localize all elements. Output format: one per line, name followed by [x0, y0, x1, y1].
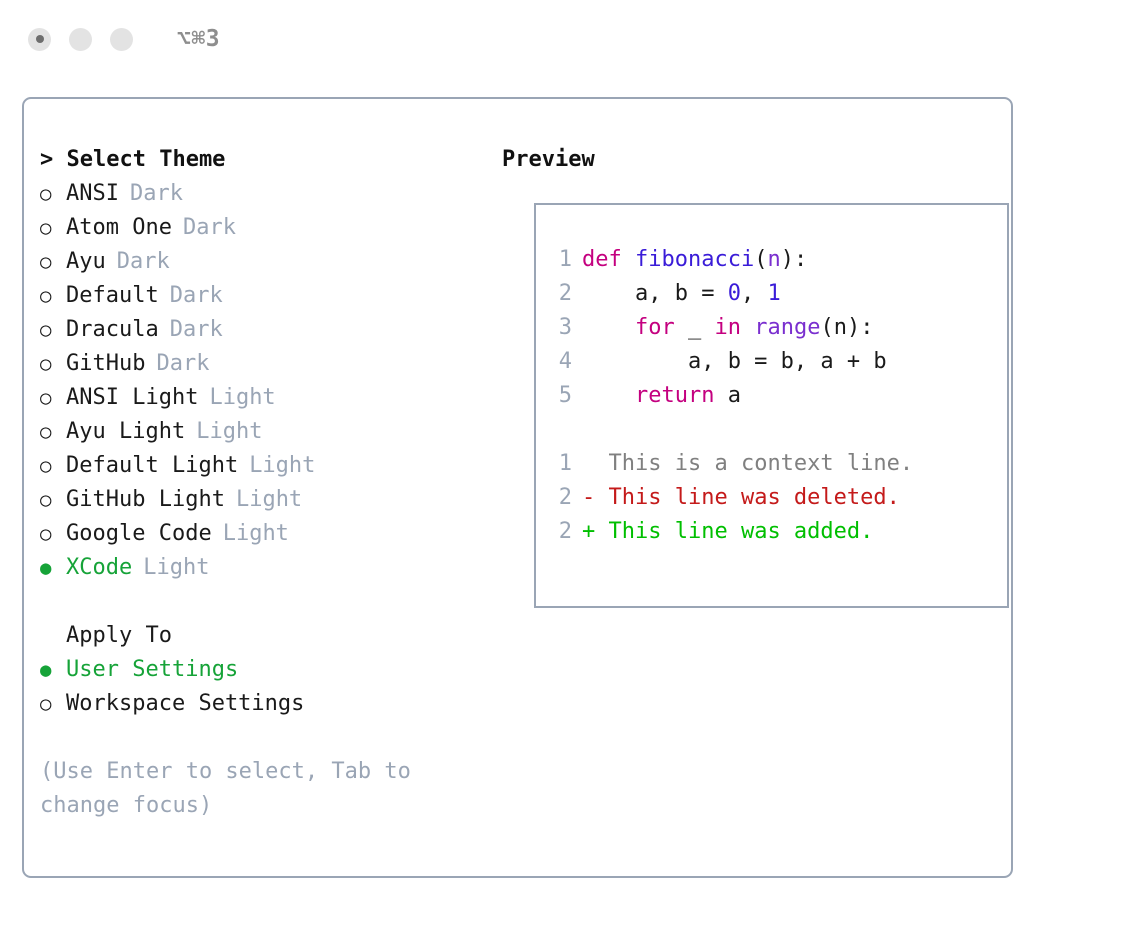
code-token-plain: ): [781, 247, 808, 272]
apply-to-option-list: ●User Settings○Workspace Settings [40, 653, 490, 721]
code-sample: 1def fibonacci(n):2 a, b = 0, 13 for _ i… [546, 243, 1001, 413]
theme-option-default-light[interactable]: ○Default LightLight [40, 449, 490, 483]
apply-to-option-label: Workspace Settings [66, 687, 304, 721]
theme-option-label: ANSI [66, 177, 119, 211]
theme-option-variant: Light [209, 381, 275, 415]
diff-line-number: 2 [546, 481, 572, 515]
window-controls [28, 28, 133, 51]
apply-to-option-user-settings[interactable]: ●User Settings [40, 653, 490, 687]
code-token-kw: for [635, 315, 675, 340]
window-dot-active-inner [36, 35, 44, 43]
code-line-content: a, b = 0, 1 [582, 277, 781, 311]
theme-option-label: GitHub [66, 347, 145, 381]
diff-sample: 1 This is a context line.2- This line wa… [546, 447, 1001, 549]
theme-option-dracula[interactable]: ○DraculaDark [40, 313, 490, 347]
window-dot-third[interactable] [110, 28, 133, 51]
theme-option-variant: Dark [183, 211, 236, 245]
code-line: 1def fibonacci(n): [546, 243, 1001, 277]
panel-columns: > Select Theme ○ANSIDark○Atom OneDark○Ay… [24, 99, 1011, 876]
radio-unselected-icon: ○ [40, 211, 66, 245]
diff-sign: + [582, 515, 595, 549]
code-token-plain: ( [754, 247, 767, 272]
theme-option-label: Default [66, 279, 159, 313]
radio-unselected-icon: ○ [40, 177, 66, 211]
radio-unselected-icon: ○ [40, 313, 66, 347]
code-token-plain [582, 315, 635, 340]
theme-selection-column: > Select Theme ○ANSIDark○Atom OneDark○Ay… [40, 143, 490, 823]
diff-sign [582, 447, 595, 481]
code-line-number: 1 [546, 243, 572, 277]
code-token-plain: _ [675, 315, 715, 340]
theme-option-variant: Dark [170, 313, 223, 347]
theme-option-github[interactable]: ○GitHubDark [40, 347, 490, 381]
diff-line-text: This is a context line. [609, 447, 914, 481]
preview-column: Preview 1def fibonacci(n):2 a, b = 0, 13… [502, 143, 1002, 177]
theme-option-label: Ayu Light [66, 415, 185, 449]
theme-option-ansi-light[interactable]: ○ANSI LightLight [40, 381, 490, 415]
radio-unselected-icon: ○ [40, 245, 66, 279]
theme-option-ayu[interactable]: ○AyuDark [40, 245, 490, 279]
theme-option-label: Default Light [66, 449, 238, 483]
theme-option-label: XCode [66, 551, 132, 585]
diff-line-del: 2- This line was deleted. [546, 481, 1001, 515]
radio-unselected-icon: ○ [40, 347, 66, 381]
diff-line-text: This line was deleted. [609, 481, 900, 515]
diff-sign-gap [595, 481, 608, 515]
code-token-plain: (n): [820, 315, 873, 340]
code-line-number: 2 [546, 277, 572, 311]
theme-option-variant: Dark [170, 279, 223, 313]
theme-option-variant: Dark [156, 347, 209, 381]
theme-option-variant: Dark [130, 177, 183, 211]
diff-line-ctx: 1 This is a context line. [546, 447, 1001, 481]
code-line-content: def fibonacci(n): [582, 243, 807, 277]
preview-code-area: 1def fibonacci(n):2 a, b = 0, 13 for _ i… [546, 243, 1001, 549]
theme-option-label: Google Code [66, 517, 212, 551]
code-token-plain [741, 315, 754, 340]
code-token-plain [582, 383, 635, 408]
code-line-content: for _ in range(n): [582, 311, 873, 345]
radio-unselected-icon: ○ [40, 687, 66, 721]
main-panel: > Select Theme ○ANSIDark○Atom OneDark○Ay… [22, 97, 1013, 878]
theme-option-label: ANSI Light [66, 381, 198, 415]
theme-option-ayu-light[interactable]: ○Ayu LightLight [40, 415, 490, 449]
theme-option-label: GitHub Light [66, 483, 225, 517]
theme-option-default[interactable]: ○DefaultDark [40, 279, 490, 313]
radio-selected-icon: ● [40, 551, 66, 585]
code-token-plain: a [714, 383, 741, 408]
radio-unselected-icon: ○ [40, 483, 66, 517]
diff-line-number: 2 [546, 515, 572, 549]
code-token-plain: a, b = b, a + b [582, 349, 887, 374]
code-token-kw: def [582, 247, 635, 272]
code-line: 3 for _ in range(n): [546, 311, 1001, 345]
code-line-number: 4 [546, 345, 572, 379]
theme-option-variant: Light [196, 415, 262, 449]
code-token-num: 1 [767, 281, 780, 306]
radio-unselected-icon: ○ [40, 415, 66, 449]
code-line: 5 return a [546, 379, 1001, 413]
diff-line-number: 1 [546, 447, 572, 481]
theme-option-xcode[interactable]: ●XCodeLight [40, 551, 490, 585]
theme-option-label: Atom One [66, 211, 172, 245]
apply-to-option-workspace-settings[interactable]: ○Workspace Settings [40, 687, 490, 721]
code-token-plain: a, b = [582, 281, 728, 306]
code-token-bi: n [767, 247, 780, 272]
theme-option-variant: Light [249, 449, 315, 483]
preview-box: 1def fibonacci(n):2 a, b = 0, 13 for _ i… [534, 203, 1009, 608]
diff-sign: - [582, 481, 595, 515]
code-token-kw: return [635, 383, 714, 408]
theme-option-variant: Light [223, 517, 289, 551]
code-line-content: return a [582, 379, 741, 413]
diff-line-add: 2+ This line was added. [546, 515, 1001, 549]
theme-option-github-light[interactable]: ○GitHub LightLight [40, 483, 490, 517]
theme-option-variant: Light [143, 551, 209, 585]
apply-to-heading-label: Apply To [66, 619, 172, 653]
radio-unselected-icon: ○ [40, 279, 66, 313]
code-token-plain: , [741, 281, 768, 306]
theme-option-variant: Light [236, 483, 302, 517]
window-titlebar: ⌥⌘3 [0, 0, 1140, 78]
diff-sign-gap [595, 515, 608, 549]
theme-option-ansi[interactable]: ○ANSIDark [40, 177, 490, 211]
theme-option-google-code[interactable]: ○Google CodeLight [40, 517, 490, 551]
code-line: 4 a, b = b, a + b [546, 345, 1001, 379]
window-dot-active[interactable] [28, 28, 51, 51]
code-line-number: 3 [546, 311, 572, 345]
radio-unselected-icon: ○ [40, 381, 66, 415]
theme-option-variant: Dark [117, 245, 170, 279]
code-token-num: 0 [728, 281, 741, 306]
window-dot-second[interactable] [69, 28, 92, 51]
spacer-after-apply-to [40, 721, 490, 755]
radio-unselected-icon: ○ [40, 449, 66, 483]
theme-option-label: Dracula [66, 313, 159, 347]
radio-selected-icon: ● [40, 653, 66, 687]
preview-heading: Preview [502, 143, 1002, 177]
apply-to-heading-row: Apply To [40, 619, 490, 653]
apply-to-heading-marker [40, 619, 66, 653]
theme-option-atom-one[interactable]: ○Atom OneDark [40, 211, 490, 245]
theme-option-list: ○ANSIDark○Atom OneDark○AyuDark○DefaultDa… [40, 177, 490, 585]
apply-to-option-label: User Settings [66, 653, 238, 687]
select-theme-heading: > Select Theme [40, 143, 490, 177]
code-line-number: 5 [546, 379, 572, 413]
keyboard-shortcut-label: ⌥⌘3 [177, 26, 220, 52]
code-token-fn: fibonacci [635, 247, 754, 272]
code-token-kw: in [714, 315, 741, 340]
help-text: (Use Enter to select, Tab to change focu… [40, 755, 460, 823]
diff-sign-gap [595, 447, 608, 481]
theme-option-label: Ayu [66, 245, 106, 279]
code-line: 2 a, b = 0, 1 [546, 277, 1001, 311]
spacer-after-themes [40, 585, 490, 619]
diff-line-text: This line was added. [609, 515, 874, 549]
radio-unselected-icon: ○ [40, 517, 66, 551]
code-diff-separator [546, 413, 1001, 447]
code-token-bi: range [754, 315, 820, 340]
code-line-content: a, b = b, a + b [582, 345, 887, 379]
